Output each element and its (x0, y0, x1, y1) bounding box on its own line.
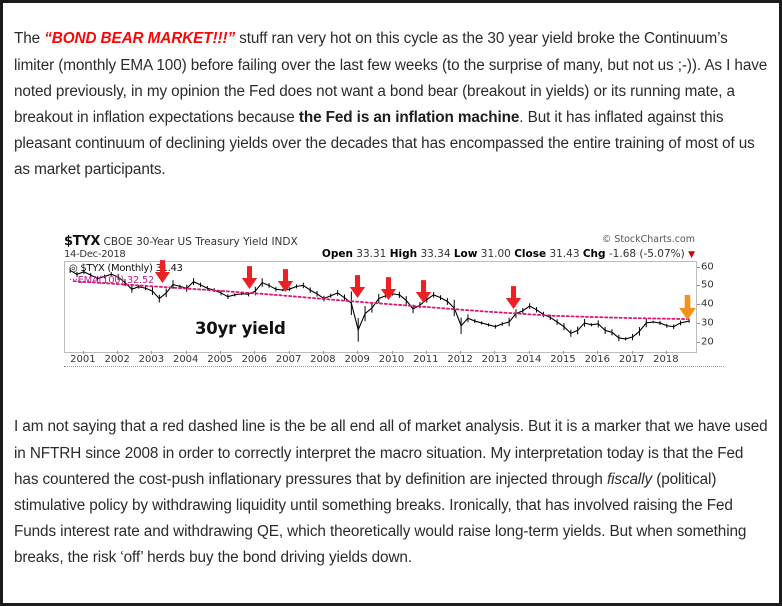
x-tick-label: 2003 (139, 354, 164, 365)
x-tick-label: 2010 (379, 354, 404, 365)
chart-description: CBOE 30-Year US Treasury Yield (104, 236, 269, 248)
red-down-arrow-marker (380, 277, 397, 301)
bond-bear-market-highlight: “BOND BEAR MARKET!!!” (44, 30, 235, 47)
candles-icon: ◎ (69, 263, 77, 274)
legend-price-name: $TYX (Monthly) (80, 263, 152, 274)
x-tick-label: 2011 (413, 354, 438, 365)
x-tick-label: 2014 (516, 354, 541, 365)
stockcharts-chart: $TYX CBOE 30-Year US Treasury Yield INDX… (61, 234, 729, 374)
x-tick-label: 2002 (104, 354, 129, 365)
open-value: 33.31 (356, 248, 386, 260)
chart-y-axis: 2030405060 (697, 261, 727, 351)
chg-label: Chg (583, 248, 606, 260)
x-tick-label: 2012 (447, 354, 472, 365)
red-down-arrow-marker (415, 280, 432, 304)
y-tick (697, 267, 700, 268)
red-down-arrow-marker (505, 286, 522, 310)
y-tick-label: 30 (701, 317, 714, 328)
chg-value: -1.68 (-5.07%) (609, 248, 685, 260)
x-tick-label: 2001 (70, 354, 95, 365)
legend-ema-value: 32.52 (127, 275, 154, 286)
x-tick-label: 2008 (310, 354, 335, 365)
y-tick (697, 342, 700, 343)
x-tick-label: 2013 (482, 354, 507, 365)
high-label: High (390, 248, 417, 260)
x-tick-label: 2016 (585, 354, 610, 365)
low-value: 31.00 (481, 248, 511, 260)
paragraph-bottom: I am not saying that a red dashed line i… (14, 414, 770, 571)
red-down-arrow-marker (349, 275, 366, 299)
chart-annotation-30yr-yield: 30yr yield (195, 319, 286, 338)
y-tick-label: 40 (701, 299, 714, 310)
y-tick-label: 60 (701, 261, 714, 272)
open-label: Open (322, 248, 353, 260)
x-tick-label: 2006 (242, 354, 267, 365)
legend-ema-series: ···EMA(100) 32.52 (69, 275, 154, 286)
x-tick-label: 2005 (207, 354, 232, 365)
chart-x-axis: 2001200220032004200520062007200820092010… (64, 354, 695, 372)
chart-symbol: $TYX (64, 234, 100, 249)
y-tick-label: 50 (701, 280, 714, 291)
paragraph-top-lead: The (14, 30, 44, 47)
close-value: 31.43 (549, 248, 579, 260)
y-tick-label: 20 (701, 336, 714, 347)
red-down-arrow-marker (277, 269, 294, 293)
x-tick-label: 2017 (619, 354, 644, 365)
fiscally-italic: fiscally (607, 471, 652, 488)
chart-date: 14-Dec-2018 (64, 249, 125, 260)
x-tick-label: 2018 (653, 354, 678, 365)
x-tick-label: 2004 (173, 354, 198, 365)
x-tick-label: 2007 (276, 354, 301, 365)
paragraph-top: The “BOND BEAR MARKET!!!” stuff ran very… (14, 26, 770, 183)
red-down-arrow-marker (241, 266, 258, 290)
x-tick-label: 2015 (550, 354, 575, 365)
x-tick-label: 2009 (344, 354, 369, 365)
chart-quote-bar: Open 33.31 High 33.34 Low 31.00 Close 31… (322, 248, 695, 260)
close-label: Close (514, 248, 546, 260)
orange-down-arrow-marker (678, 295, 697, 321)
legend-ema-name: EMA(100) (78, 275, 124, 286)
inflation-machine-bold: the Fed is an inflation machine (299, 109, 519, 126)
chart-title: $TYX CBOE 30-Year US Treasury Yield INDX (64, 234, 298, 249)
chart-exchange-suffix: INDX (271, 236, 297, 248)
low-label: Low (454, 248, 478, 260)
article-page: The “BOND BEAR MARKET!!!” stuff ran very… (0, 0, 782, 606)
chg-down-triangle-icon: ▼ (688, 250, 695, 260)
dotted-line-icon: ··· (69, 275, 78, 286)
y-tick (697, 323, 700, 324)
y-tick (697, 304, 700, 305)
x-axis-rule (64, 366, 724, 368)
red-down-arrow-marker (154, 260, 171, 284)
stockcharts-credit: © StockCharts.com (602, 234, 695, 245)
high-value: 33.34 (420, 248, 450, 260)
y-tick (697, 285, 700, 286)
